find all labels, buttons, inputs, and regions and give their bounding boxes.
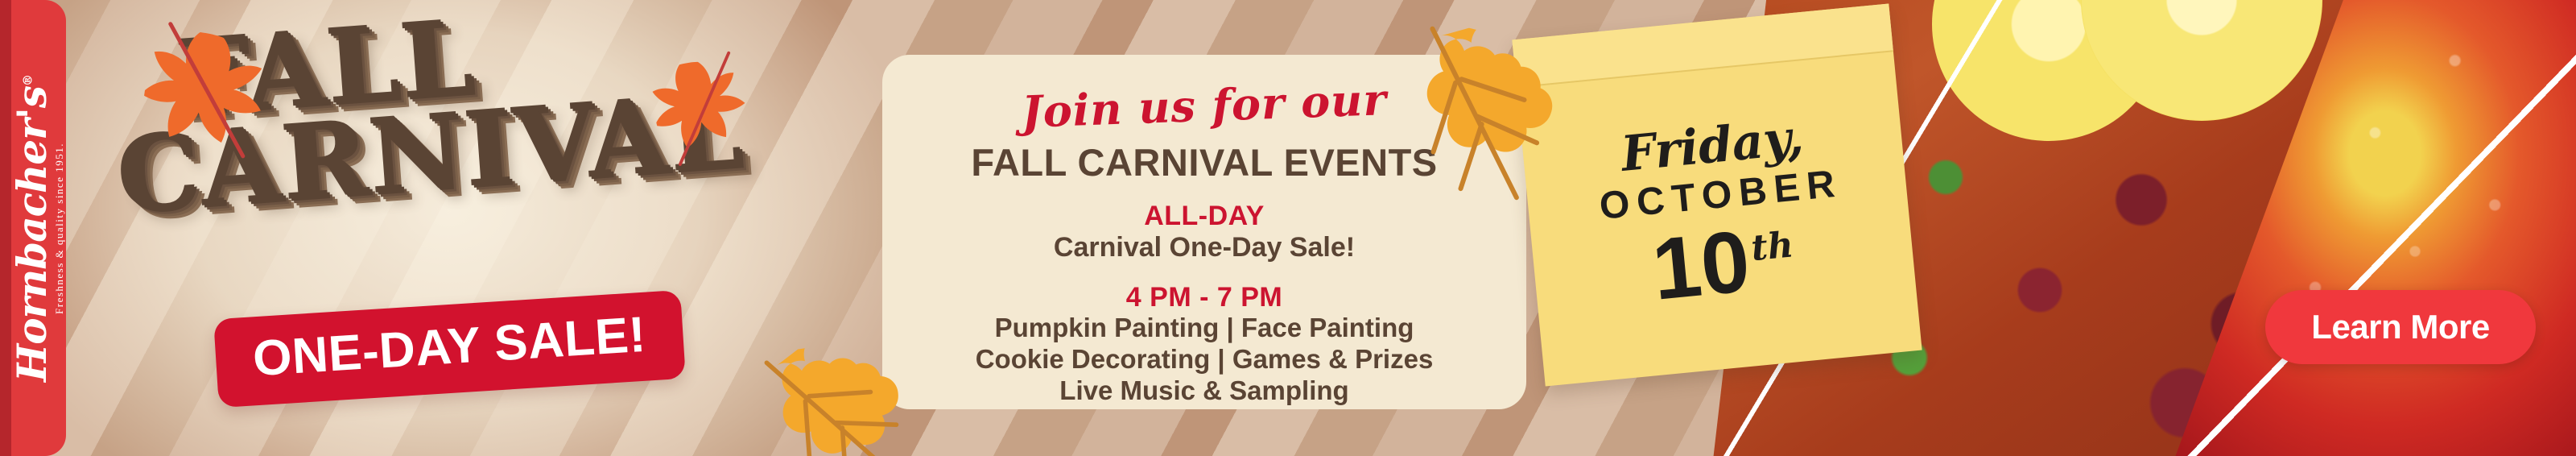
brand-rail: Hornbacher's® Freshness & quality since …: [0, 0, 66, 456]
learn-more-label: Learn More: [2311, 308, 2489, 346]
sticky-note-date-number: 10: [1649, 221, 1753, 309]
sticky-note-date-ordinal: th: [1750, 230, 1795, 266]
event-block-evening: 4 PM - 7 PM Pumpkin Painting | Face Pain…: [976, 282, 1434, 407]
brand-rail-inner: Hornbacher's® Freshness & quality since …: [11, 0, 66, 456]
events-title: FALL CARNIVAL EVENTS: [971, 143, 1437, 181]
fall-carnival-promo-banner[interactable]: Hornbacher's® Freshness & quality since …: [0, 0, 2576, 456]
event-block-all-day: ALL-DAY Carnival One-Day Sale!: [1054, 201, 1355, 264]
date-sticky-note: Friday, OCTOBER 10 th: [1512, 3, 1922, 386]
event-detail-line: Pumpkin Painting | Face Painting: [976, 313, 1434, 344]
registered-mark-icon: ®: [21, 74, 35, 85]
brand-lockup: Hornbacher's® Freshness & quality since …: [13, 74, 65, 381]
brand-name-text: Hornbacher's: [9, 85, 56, 381]
event-detail-line: Live Music & Sampling: [976, 375, 1434, 407]
one-day-sale-label: ONE-DAY SALE!: [251, 310, 647, 385]
events-script-intro: Join us for our: [1021, 77, 1387, 134]
event-time-label: 4 PM - 7 PM: [976, 282, 1434, 313]
event-detail-line: Carnival One-Day Sale!: [1054, 231, 1355, 264]
events-card: Join us for our FALL CARNIVAL EVENTS ALL…: [882, 55, 1526, 409]
brand-name: Hornbacher's®: [13, 74, 53, 381]
event-detail-line: Cookie Decorating | Games & Prizes: [976, 344, 1434, 375]
sticky-note-date: 10 th: [1649, 217, 1798, 310]
headline-group: FALL CARNIVAL: [121, 11, 805, 309]
brand-tagline: Freshness & quality since 1951.: [55, 143, 65, 314]
learn-more-button[interactable]: Learn More: [2265, 290, 2536, 364]
event-time-label: ALL-DAY: [1054, 201, 1355, 231]
sticky-note-body: Friday, OCTOBER 10 th: [1517, 52, 1922, 386]
